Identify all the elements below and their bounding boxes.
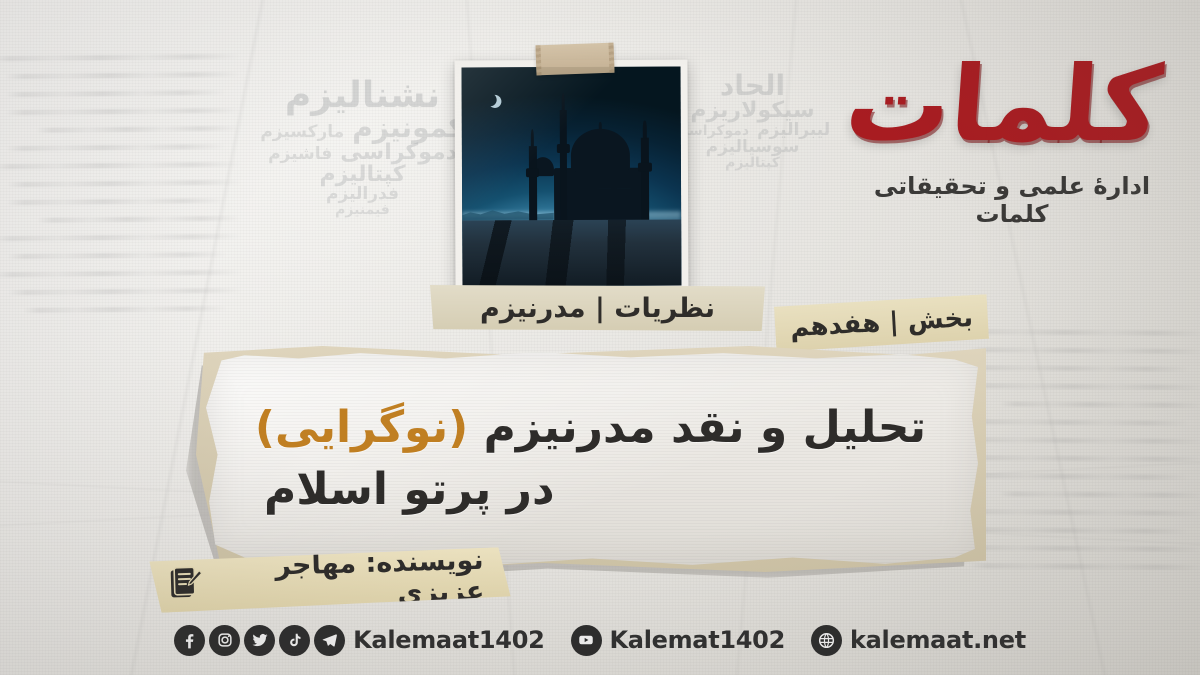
twitter-icon[interactable] <box>244 625 275 656</box>
social-group-website: kalemaat.net <box>811 625 1026 656</box>
brand-subtitle: ادارهٔ علمی و تحقیقاتی کلمات <box>862 172 1162 228</box>
headline-block: تحلیل و نقد مدرنیزم (نوگرایی) در پرتو اس… <box>206 352 978 566</box>
mosque-main-dome <box>571 129 630 172</box>
social-group-primary: Kalemaat1402 <box>174 625 544 656</box>
category-tag[interactable]: نظریات | مدرنیزم <box>430 285 765 331</box>
kalemaat-logo: كلمات <box>858 52 1165 156</box>
mosque-silhouette <box>523 99 664 227</box>
brand-block: كلمات ادارهٔ علمی و تحقیقاتی کلمات <box>862 52 1162 228</box>
social-handle-label: Kalemaat1402 <box>353 626 544 654</box>
globe-icon[interactable] <box>811 625 842 656</box>
masking-tape-icon <box>536 43 615 76</box>
social-icon-row <box>174 625 345 656</box>
headline-line-1-text: تحلیل و نقد مدرنیزم <box>468 402 926 453</box>
telegram-icon[interactable] <box>314 625 345 656</box>
social-group-youtube: Kalemat1402 <box>571 625 785 656</box>
mosque-photo <box>462 67 682 287</box>
minaret <box>529 146 537 222</box>
footer-social-bar: Kalemaat1402 Kalemat1402 kalemaat.net <box>0 617 1200 663</box>
mosque-photo-card <box>454 59 688 293</box>
minaret <box>559 110 567 222</box>
minaret <box>641 138 649 222</box>
youtube-icon[interactable] <box>571 625 602 656</box>
document-pen-icon <box>168 566 205 603</box>
headline-accent-text: (نوگرایی) <box>255 402 468 453</box>
headline-line-1: تحلیل و نقد مدرنیزم (نوگرایی) <box>246 397 926 459</box>
youtube-handle-label: Kalemat1402 <box>610 626 785 654</box>
instagram-icon[interactable] <box>209 625 240 656</box>
headline-line-2: در پرتو اسلام <box>246 459 926 521</box>
poster-canvas: نشنالیزم کمونیزممارکسیزم دموکراسیفاشیزم … <box>0 0 1200 675</box>
tiktok-icon[interactable] <box>279 625 310 656</box>
foreground-plaza <box>462 220 681 287</box>
website-label: kalemaat.net <box>850 626 1026 654</box>
facebook-icon[interactable] <box>174 625 205 656</box>
